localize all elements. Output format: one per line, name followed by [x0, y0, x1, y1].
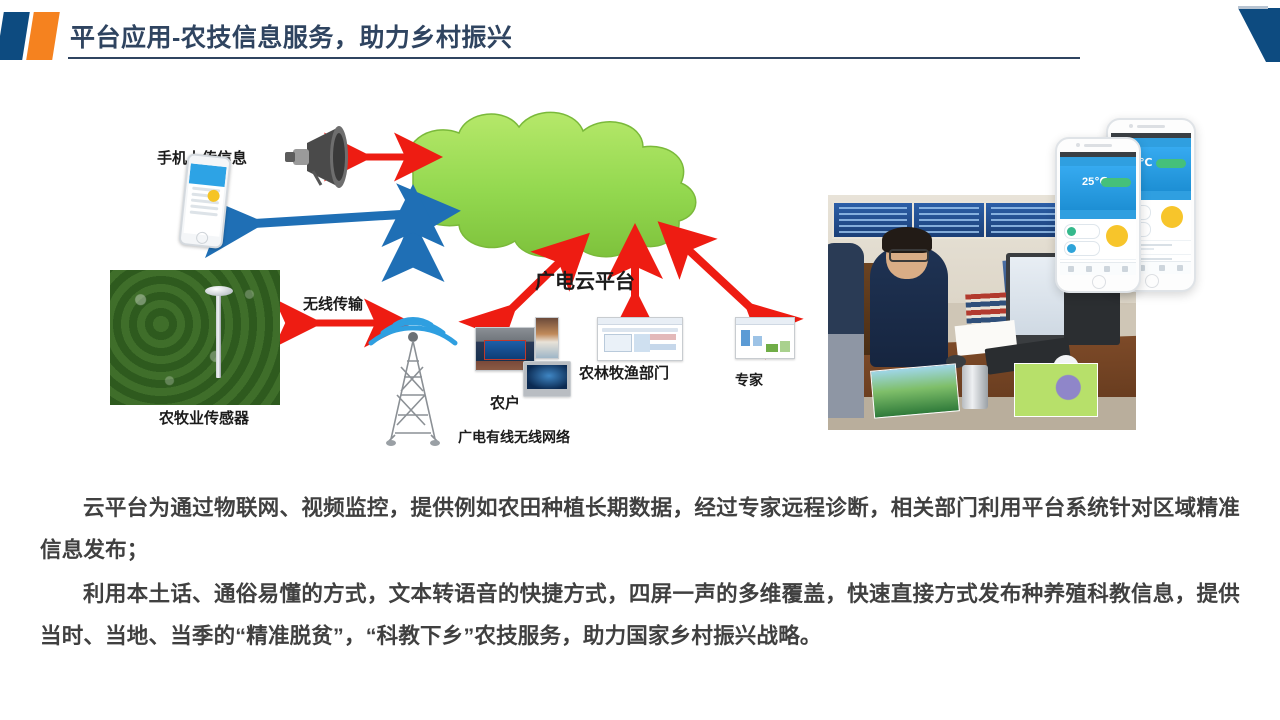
- thumbnail-mobile-phone: [535, 317, 559, 359]
- front-camera-icon: [1129, 124, 1133, 128]
- thumbnail-expert-dashboard: [735, 317, 795, 359]
- label-expert: 专家: [735, 370, 763, 390]
- label-farmer: 农户: [490, 392, 520, 413]
- cloud-platform-label: 广电云平台: [535, 265, 635, 294]
- earpiece-speaker: [1137, 125, 1165, 128]
- megaphone-icon: [285, 126, 348, 188]
- earpiece-speaker-2: [1084, 144, 1112, 147]
- body-paragraph-1: 云平台为通过物联网、视频监控，提供例如农田种植长期数据，经过专家远程诊断，相关部…: [40, 487, 1240, 571]
- label-network: 广电有线无线网络: [458, 427, 570, 447]
- slide-header: 平台应用-农技信息服务，助力乡村振兴: [0, 0, 1280, 78]
- eyeglasses: [889, 249, 929, 262]
- sensor-head: [205, 286, 233, 296]
- label-wireless: 无线传输: [303, 293, 363, 314]
- thermos-cup: [962, 365, 988, 409]
- broadcast-tower-icon: [371, 319, 455, 446]
- architecture-diagram: 广电云平台 手机上传信息 农牧业传感器 无线传输 广电有线无线网络 农户 农林牧…: [95, 95, 815, 475]
- brochure-right: [1014, 363, 1098, 417]
- label-department: 农林牧渔部门: [579, 362, 669, 383]
- thumbnail-television: [523, 361, 571, 397]
- arrow-phone-cloud: [230, 213, 425, 225]
- thumbnail-department-dashboard: [597, 317, 683, 361]
- front-camera-icon-2: [1076, 143, 1080, 147]
- farm-field-photo: [110, 270, 280, 405]
- arrow-expert-cloud: [681, 243, 767, 323]
- home-button-front: [1092, 275, 1106, 289]
- title-underline-rule: [68, 57, 1080, 59]
- body-paragraph-2: 利用本土话、通俗易懂的方式，文本转语音的快捷方式，四屏一声的多维覆盖，快速直接方…: [40, 573, 1240, 657]
- brochure-left: [870, 363, 960, 418]
- home-button-back: [1145, 274, 1159, 288]
- header-accent-orange-bar: [26, 12, 60, 60]
- corner-wedge-decoration: [1226, 0, 1280, 62]
- cloud-shape: [408, 112, 696, 256]
- phone-mockup-front: 25℃: [1055, 137, 1141, 293]
- label-sensor: 农牧业传感器: [159, 407, 249, 428]
- sensor-pole: [216, 292, 221, 378]
- standing-person: [828, 243, 864, 418]
- body-text-block: 云平台为通过物联网、视频监控，提供例如农田种植长期数据，经过专家远程诊断，相关部…: [40, 487, 1240, 659]
- page-title: 平台应用-农技信息服务，助力乡村振兴: [70, 18, 512, 54]
- header-accent-blue-bar: [0, 12, 30, 60]
